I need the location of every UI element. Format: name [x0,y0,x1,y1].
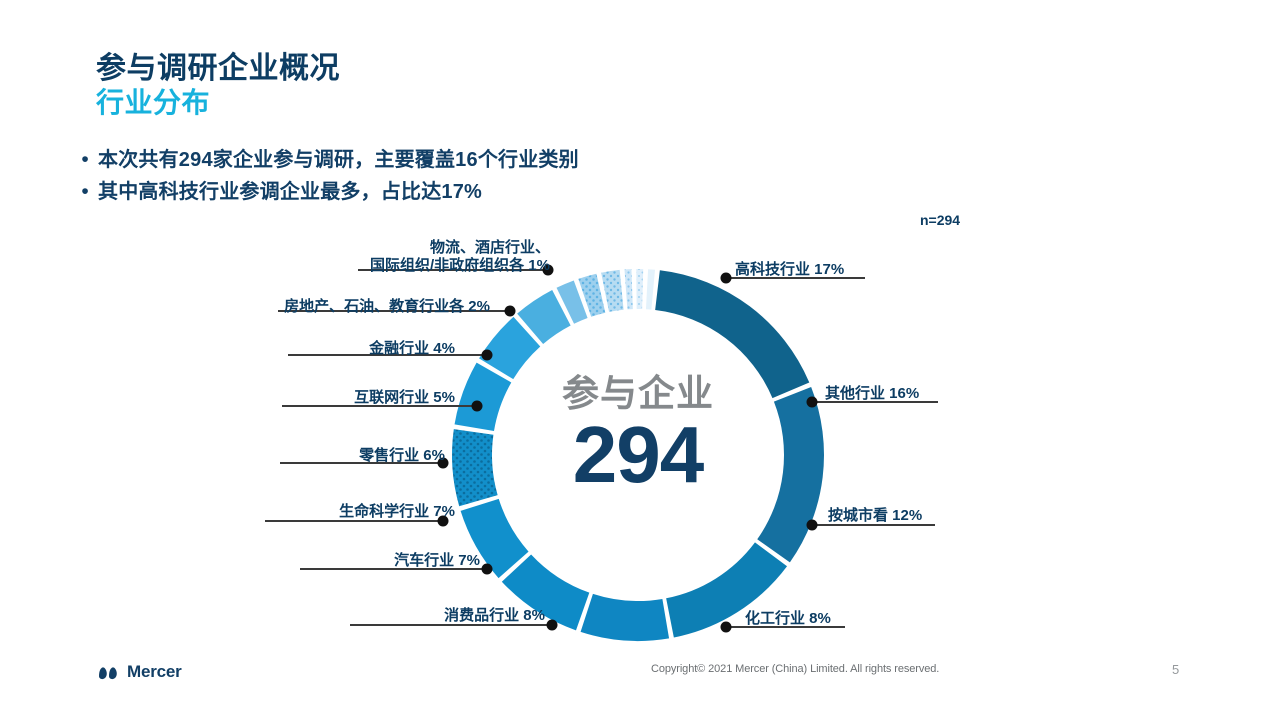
callout-line-1: 物流、酒店行业、 [240,239,550,257]
donut-slice[interactable]: 酒店行业 1% [636,269,643,309]
donut-slice[interactable]: 其他行业 16% [757,387,824,562]
callout-label-life-science: 生命科学行业 7% [215,503,455,521]
page-number: 5 [1172,662,1179,677]
page-title: 参与调研企业概况 [96,52,996,86]
callout-label-hightech: 高科技行业 17% [735,261,844,279]
leader-dot [721,273,732,284]
donut-slice[interactable]: 生命科学行业 7% [452,429,498,506]
title-block: 参与调研企业概况 行业分布 [96,52,996,119]
leader-dot [807,397,818,408]
mercer-logo: Mercer [98,662,182,682]
callout-label-internet: 互联网行业 5% [230,389,455,407]
bullet-text: 其中高科技行业参调企业最多，占比达17% [98,178,482,206]
donut-slices: 高科技行业 17%其他行业 16%按城市看 12%化工行业 8%消费品行业 8%… [452,269,824,641]
footer-copyright: Copyright© 2021 Mercer (China) Limited. … [651,663,939,675]
leader-dot [547,620,558,631]
leader-dot [505,306,516,317]
donut-slice[interactable]: 国际组织/非政府组织 1% [646,269,655,309]
callout-label-two-pct-group: 房地产、石油、教育行业各 2% [200,298,490,316]
bullet-list: • 本次共有294家企业参与调研，主要覆盖16个行业类别 • 其中高科技行业参调… [72,146,1052,210]
donut-slice[interactable]: 化工行业 8% [581,594,669,641]
callout-line-2: 国际组织/非政府组织各 1% [240,257,550,275]
page-subtitle: 行业分布 [96,87,996,119]
leader-dot [472,401,483,412]
list-item: • 其中高科技行业参调企业最多，占比达17% [72,178,1052,206]
callout-label-tiny-group: 物流、酒店行业、 国际组织/非政府组织各 1% [240,239,550,276]
leader-dot [482,564,493,575]
slide-canvas: 参与调研企业概况 行业分布 • 本次共有294家企业参与调研，主要覆盖16个行业… [0,0,1279,719]
bullet-text: 本次共有294家企业参与调研，主要覆盖16个行业类别 [98,146,579,174]
bullet-marker-icon: • [72,178,98,206]
callout-label-retail: 零售行业 6% [230,447,445,465]
list-item: • 本次共有294家企业参与调研，主要覆盖16个行业类别 [72,146,1052,174]
callout-label-finance: 金融行业 4% [240,340,455,358]
mercer-logo-text: Mercer [127,662,182,682]
donut-slice[interactable]: 教育行业 2% [601,270,623,312]
donut-chart: 高科技行业 17%其他行业 16%按城市看 12%化工行业 8%消费品行业 8%… [0,225,1279,645]
donut-chart-svg: 高科技行业 17%其他行业 16%按城市看 12%化工行业 8%消费品行业 8%… [0,225,1279,645]
leader-dot [721,622,732,633]
bullet-marker-icon: • [72,146,98,174]
callout-label-other: 其他行业 16% [825,385,919,403]
donut-slice[interactable]: 零售行业 6% [455,363,512,431]
leader-dot [482,350,493,361]
callout-label-by-city: 按城市看 12% [828,507,922,525]
leader-dot [807,520,818,531]
donut-slice[interactable]: 物流行业 1% [625,269,633,309]
callout-label-consumer: 消费品行业 8% [300,607,545,625]
callout-label-chemical: 化工行业 8% [745,610,831,628]
callout-label-automotive: 汽车行业 7% [250,552,480,570]
mercer-mark-icon [98,665,120,680]
donut-slice[interactable]: 高科技行业 17% [655,270,809,398]
